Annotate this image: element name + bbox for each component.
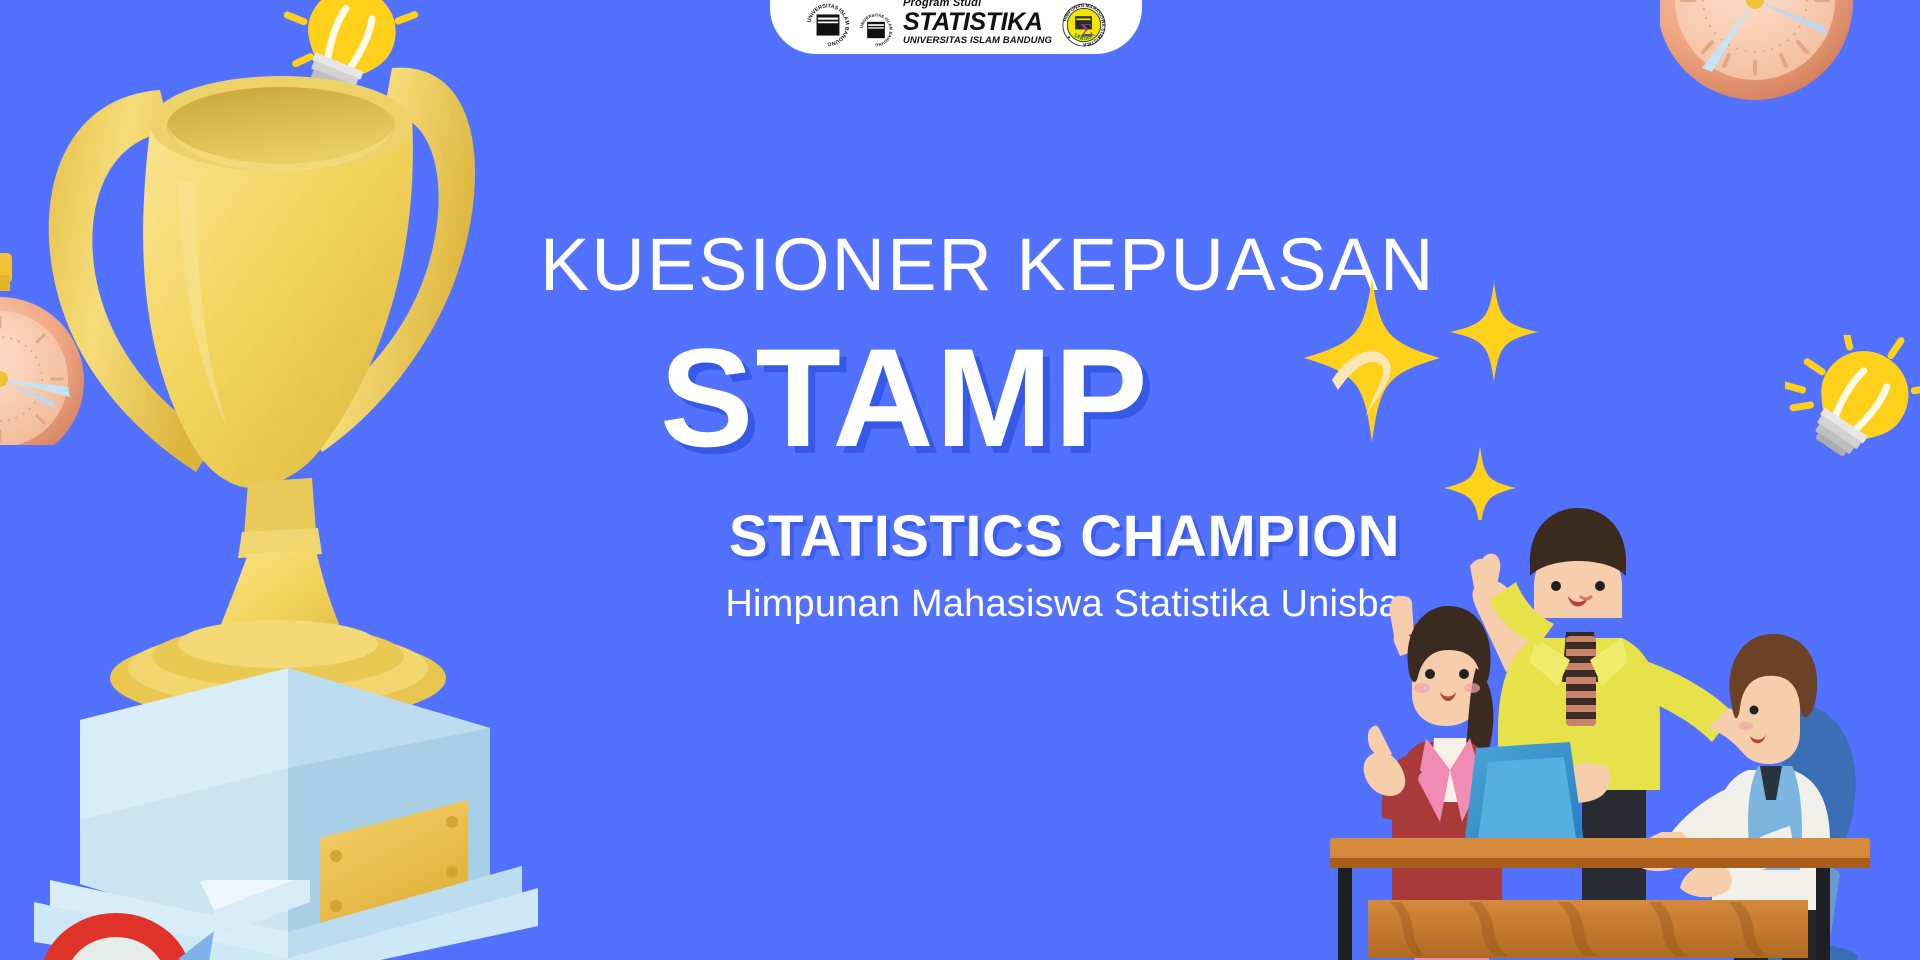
prodi-wordmark: Program Studi STATISTIKA UNIVERSITAS ISL… bbox=[903, 0, 1052, 45]
himpunan-mahasiswa-statistika-unisba-seal: HIMPUNAN MAHASISWA STATISTIKA UNISBA Σ bbox=[1062, 3, 1106, 47]
universitas-islam-bandung-seal: UNIVERSITAS ISLAM BANDUNG bbox=[806, 3, 850, 47]
target-dartboard-icon bbox=[38, 885, 238, 960]
universitas-islam-bandung-seal-small: UNIVERSITAS ISLAM BANDUNG bbox=[859, 13, 893, 47]
wordmark-line-2: STATISTIKA bbox=[903, 10, 1052, 35]
team-discussion-illustration bbox=[1330, 470, 1920, 960]
tagline-text: Himpunan Mahasiswa Statistika Unisba bbox=[540, 584, 1400, 626]
clock-icon-top-right bbox=[1660, 0, 1880, 125]
eyebrow-text: KUESIONER KEPUASAN bbox=[540, 228, 1400, 302]
trophy-illustration bbox=[20, 20, 580, 960]
subtitle-text: STATISTICS CHAMPION bbox=[540, 508, 1400, 566]
lightbulb-icon-right bbox=[1785, 335, 1920, 480]
unisba-logo-bar: UNIVERSITAS ISLAM BANDUNG UNIVERSITAS IS… bbox=[770, 0, 1142, 54]
svg-text:Σ: Σ bbox=[1081, 20, 1093, 40]
wordmark-line-3: UNIVERSITAS ISLAM BANDUNG bbox=[903, 36, 1052, 46]
banner-canvas: KUESIONER KEPUASAN STAMP STATISTICS CHAM… bbox=[0, 0, 1920, 960]
